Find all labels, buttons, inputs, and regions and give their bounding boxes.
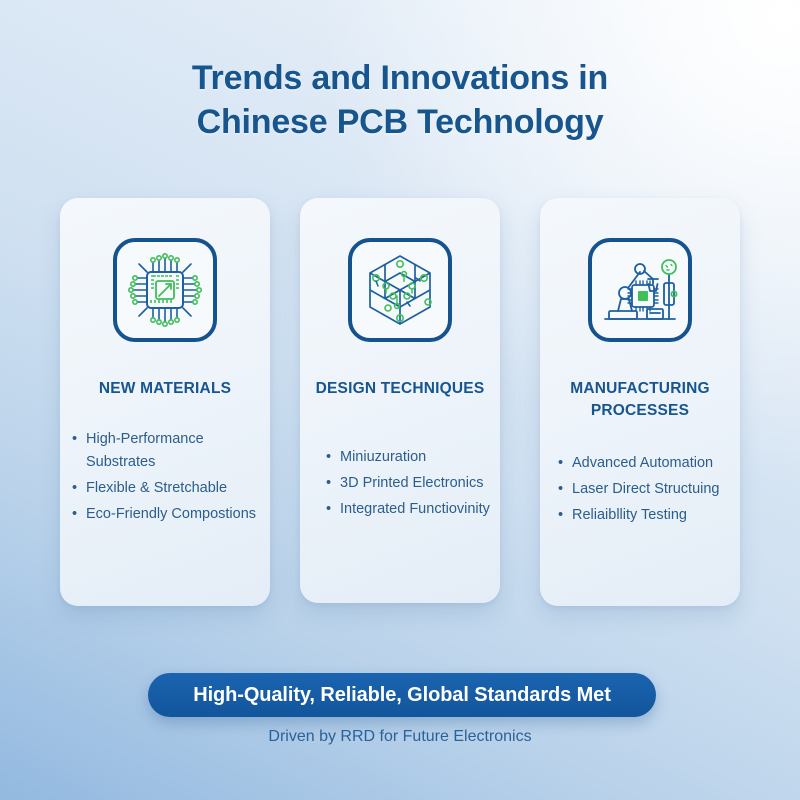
card-manufacturing-processes: MANUFACTURING PROCESSES Advanced Automat… bbox=[540, 198, 740, 606]
banner-text: High-Quality, Reliable, Global Standards… bbox=[193, 684, 611, 707]
card-bullet-list: Advanced Automation Laser Direct Structu… bbox=[540, 452, 740, 530]
card-heading: NEW MATERIALS bbox=[91, 378, 239, 400]
list-item: Laser Direct Structuing bbox=[558, 478, 740, 501]
card-heading: MANUFACTURING PROCESSES bbox=[562, 378, 718, 422]
card-design-techniques: DESIGN TECHNIQUES Miniuzuration 3D Print… bbox=[300, 198, 500, 603]
title-line-2: Chinese PCB Technology bbox=[0, 100, 800, 144]
list-item: Integrated Functiovinity bbox=[326, 498, 500, 521]
title-line-1: Trends and Innovations in bbox=[0, 56, 800, 100]
infographic-poster: Trends and Innovations in Chinese PCB Te… bbox=[0, 0, 800, 800]
card-heading-line-2: PROCESSES bbox=[570, 400, 710, 422]
card-heading: DESIGN TECHNIQUES bbox=[308, 378, 493, 400]
list-item: Flexible & Stretchable bbox=[72, 477, 270, 500]
card-bullet-list: Miniuzuration 3D Printed Electronics Int… bbox=[300, 446, 500, 524]
status-badge: High-Quality, Reliable, Global Standards… bbox=[148, 673, 656, 717]
lattice-cube-icon bbox=[348, 238, 452, 342]
list-item: Advanced Automation bbox=[558, 452, 740, 475]
card-heading-line-1: MANUFACTURING bbox=[570, 378, 710, 400]
list-item: Reliaibllity Testing bbox=[558, 504, 740, 527]
list-item: 3D Printed Electronics bbox=[326, 472, 500, 495]
list-item: Eco-Friendly Compostions bbox=[72, 503, 270, 526]
cards-row: NEW MATERIALS High-Performance Substrate… bbox=[60, 198, 740, 610]
page-title: Trends and Innovations in Chinese PCB Te… bbox=[0, 56, 800, 144]
microchip-icon bbox=[113, 238, 217, 342]
card-new-materials: NEW MATERIALS High-Performance Substrate… bbox=[60, 198, 270, 606]
tagline: Driven by RRD for Future Electronics bbox=[0, 728, 800, 746]
list-item: High-Performance Substrates bbox=[72, 428, 254, 474]
list-item: Miniuzuration bbox=[326, 446, 500, 469]
card-bullet-list: High-Performance Substrates Flexible & S… bbox=[60, 428, 270, 529]
robot-arm-icon bbox=[588, 238, 692, 342]
